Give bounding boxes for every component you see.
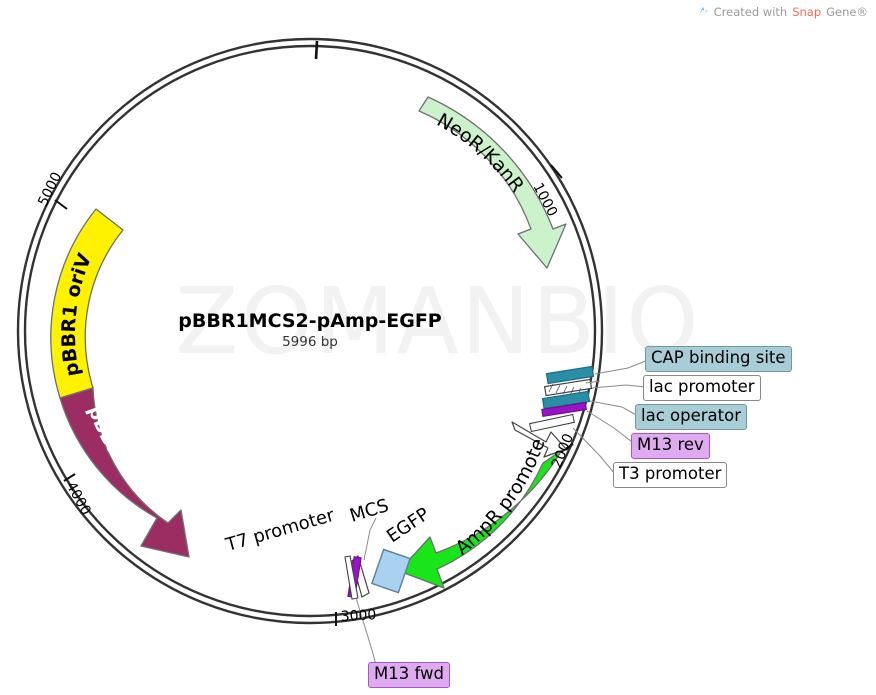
leader-mcs — [364, 518, 376, 560]
feature-cluster-lac-region — [530, 366, 594, 431]
origin-tick — [316, 41, 317, 59]
page-title: pBBR1MCS2-pAmp-EGFP — [0, 310, 620, 332]
callout-t3-promoter[interactable]: T3 promoter — [613, 462, 727, 488]
brand-prefix: Created with — [714, 5, 788, 19]
callout-lac-promoter[interactable]: lac promoter — [643, 375, 761, 401]
plasmid-size-label: 5996 bp — [0, 334, 620, 350]
leader-cap-binding-site — [595, 360, 648, 374]
callout-cap-binding-site[interactable]: CAP binding site — [645, 346, 792, 372]
feature-label-mcs: MCS — [347, 495, 391, 527]
brand-gene: Gene® — [826, 5, 868, 19]
callout-m13-fwd[interactable]: M13 fwd — [368, 662, 450, 688]
callout-m13-rev[interactable]: M13 rev — [631, 433, 710, 459]
leader-t3-promoter — [573, 428, 615, 474]
snapgene-branding: Created with Snap Gene® — [697, 5, 868, 19]
snapgene-logo-icon — [697, 6, 709, 18]
feature-label-t7-promoter: T7 promoter — [223, 505, 338, 556]
leader-m13-rev — [587, 411, 632, 442]
tick-5000 — [55, 200, 67, 209]
brand-snap: Snap — [792, 5, 821, 19]
leader-lac-promoter — [592, 385, 646, 388]
callout-lac-operator[interactable]: lac operator — [635, 404, 747, 430]
feature-egfp[interactable] — [372, 549, 410, 592]
tick-label-3000: 3000 — [340, 607, 376, 625]
leader-lac-operator — [590, 401, 638, 416]
tick-label-4000: 4000 — [63, 479, 94, 518]
plasmid-map-canvas: ZOMANBIO — [0, 0, 876, 695]
plasmid-title-block: pBBR1MCS2-pAmp-EGFP 5996 bp — [0, 310, 620, 350]
tick-label-5000: 5000 — [35, 170, 65, 209]
feature-unnamed-outline-bar[interactable] — [530, 415, 575, 432]
